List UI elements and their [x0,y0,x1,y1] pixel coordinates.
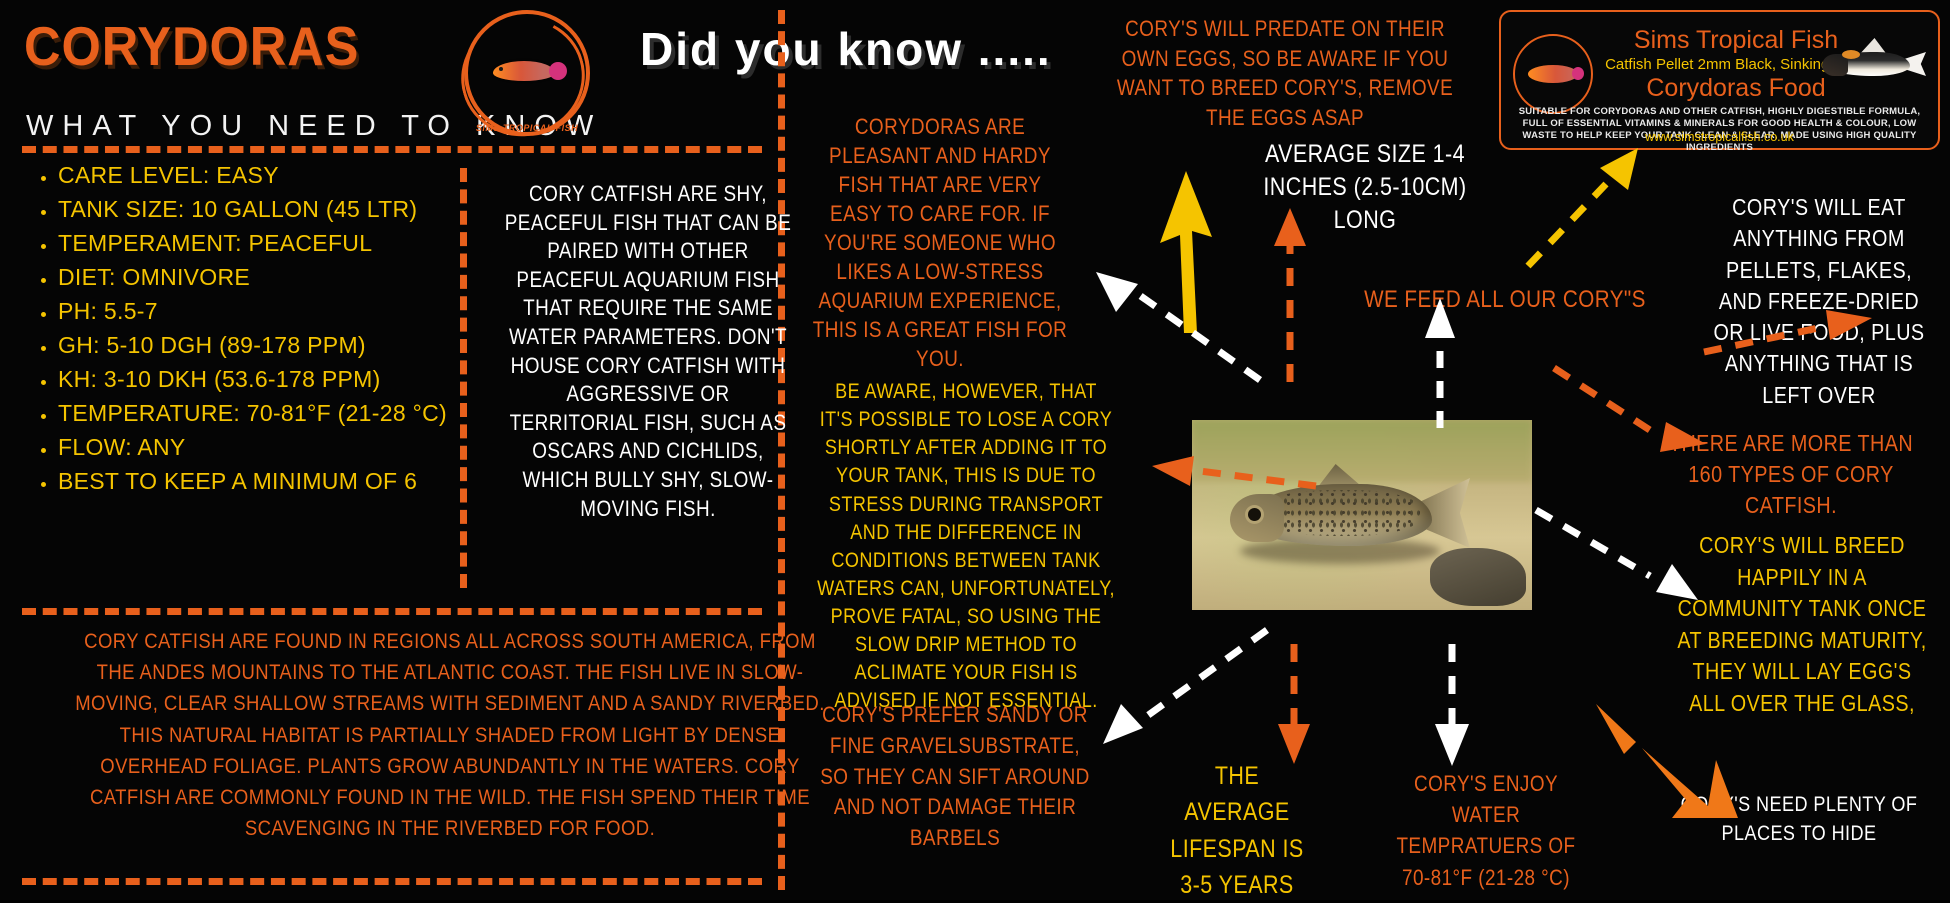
did-you-know-heading: Did you know ..... [640,22,1052,76]
divider-bottom-left [22,878,762,885]
logo-brand-text: SIMS TROPICAL FISH [468,123,586,133]
page-title: CORYDORAS [24,14,359,78]
arrow-orange-dashed-right-types [1548,360,1728,470]
text-block-we-feed: WE FEED ALL OUR CORY"S [1363,284,1647,315]
list-item: FLOW: ANY [58,430,450,464]
care-facts-list: CARE LEVEL: EASY TANK SIZE: 10 GALLON (4… [30,158,450,498]
arrow-orange-dashed-left-mid [1140,452,1320,498]
list-item: TEMPERATURE: 70-81°F (21-28 °C) [58,396,450,430]
product-label-card: Sims Tropical Fish Catfish Pellet 2mm Bl… [1499,10,1940,150]
catfish-illustration-icon [1816,34,1926,92]
list-item: KH: 3-10 DKH (53.6-178 PPM) [58,362,450,396]
text-block-habitat: CORY CATFISH ARE FOUND IN REGIONS ALL AC… [72,626,829,844]
list-item: BEST TO KEEP A MINIMUM OF 6 [58,464,450,498]
divider-top-left [22,146,762,153]
corydoras-photo [1192,420,1532,610]
divider-mid-left [22,608,762,615]
arrow-orange-solid-down-right [1590,700,1750,830]
logo-fish-icon [485,53,569,93]
arrow-white-dashed-up-center [1420,290,1460,430]
infographic-canvas: CORYDORAS WHAT YOU NEED TO KNOW Did you … [0,0,1950,900]
divider-vertical-inner [460,168,467,588]
brand-logo: SIMS TROPICAL FISH [464,10,590,136]
arrow-white-dashed-down-left [1085,620,1275,750]
product-logo-badge [1513,34,1593,114]
text-block-pleasant-hardy: CORYDORAS ARE PLEASANT AND HARDY FISH TH… [811,112,1069,373]
text-block-lifespan: THE AVERAGE LIFESPAN IS 3-5 YEARS [1160,758,1313,903]
text-block-predate-eggs: CORY'S WILL PREDATE ON THEIR OWN EGGS, S… [1109,14,1462,133]
list-item: TEMPERAMENT: PEACEFUL [58,226,450,260]
text-block-be-aware: BE AWARE, HOWEVER, THAT IT'S POSSIBLE TO… [816,378,1115,716]
arrow-orange-dashed-up-predate [1700,300,1880,370]
arrow-orange-dashed-up [1270,200,1310,385]
arrow-white-dashed-left-upper [1080,270,1270,390]
text-block-shy-peaceful: CORY CATFISH ARE SHY, PEACEFUL FISH THAT… [502,180,794,523]
arrow-orange-dashed-down-lifespan [1272,640,1316,770]
list-item: GH: 5-10 DGH (89-178 PPM) [58,328,450,362]
arrow-white-dashed-down-temps [1430,640,1474,770]
care-facts-ul: CARE LEVEL: EASY TANK SIZE: 10 GALLON (4… [30,158,450,498]
list-item: CARE LEVEL: EASY [58,158,450,192]
list-item: PH: 5.5-7 [58,294,450,328]
arrow-white-dashed-right-breed [1530,500,1720,610]
text-block-prefer-sandy: CORY'S PREFER SANDY OR FINE GRAVELSUBSTR… [813,700,1097,854]
arrow-yellow-dashed-up-right [1520,140,1650,270]
text-block-water-temps: CORY'S ENJOY WATER TEMPRATUERS OF 70-81°… [1383,768,1589,893]
list-item: TANK SIZE: 10 GALLON (45 LTR) [58,192,450,226]
logo-fish-icon [1528,65,1578,83]
list-item: DIET: OMNIVORE [58,260,450,294]
